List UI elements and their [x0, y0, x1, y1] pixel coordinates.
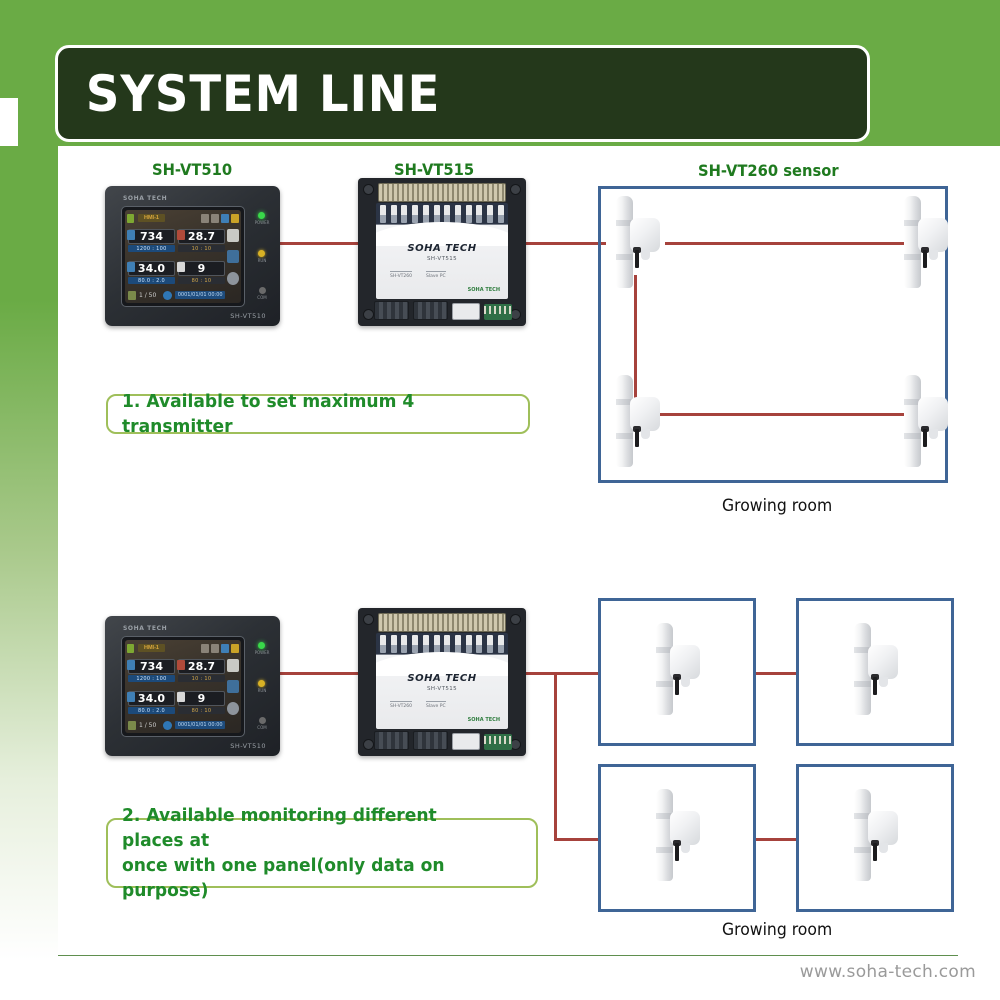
hmi-screen-bottombar-top: 1 / 50 0001/01/01 00:00: [128, 289, 225, 301]
hmi-screen-title-top: HMI-1: [138, 214, 165, 222]
hmi-screen-bottombar-bottom: 1 / 50 0001/01/01 00:00: [128, 719, 225, 731]
sensor-probe: [635, 250, 639, 268]
wire-branch-vertical-bottom: [554, 672, 557, 840]
hmi-cell-humidity-top[interactable]: 34.0 80.0 : 2.0: [128, 258, 175, 287]
hmi-led-column-bottom: POWER RUN COM: [254, 642, 270, 730]
led-label-run-bottom: RUN: [258, 688, 267, 693]
hmi-cell-co2-top[interactable]: 734 1200 : 100: [128, 226, 175, 255]
hmi-led-column-top: POWER RUN COM: [254, 212, 270, 300]
controller-bottom[interactable]: SOHA TECH SH-VT515 SH-VT260 Slave PC SOH…: [358, 608, 526, 756]
status-chip-icon: [127, 644, 134, 653]
led-run-top: RUN: [258, 250, 267, 263]
title-banner: SYSTEM LINE: [55, 45, 870, 142]
power-led-icon: [258, 642, 265, 649]
controller-sublabel-sensor-bottom: SH-VT260: [390, 701, 412, 709]
hmi-screen-topbar-top: HMI-1: [127, 212, 239, 224]
terminal-block-icon: [413, 731, 448, 750]
hmi-value-temp-bottom: 28.7: [178, 659, 225, 674]
wire-hmi-to-controller-top: [278, 242, 360, 245]
growing-room-label-top: Growing room: [722, 496, 832, 516]
wire-room-top-horizontal-2: [634, 413, 906, 416]
sensor-ring: [656, 847, 673, 853]
power-led-icon: [258, 212, 265, 219]
sensor-bracket: [641, 250, 650, 260]
led-power-top: POWER: [255, 212, 270, 225]
screw-icon: [363, 184, 374, 195]
sensor-ring: [656, 681, 673, 687]
growing-room-label-bottom: Growing room: [722, 920, 832, 940]
wire-branch-to-box-1: [554, 672, 600, 675]
label-controller: SH-VT515: [394, 160, 474, 179]
callout-text-2: 2. Available monitoring different places…: [122, 803, 502, 903]
sensor-ring: [854, 847, 871, 853]
thermometer-icon: [231, 644, 239, 653]
header-notch: [0, 98, 18, 146]
terminal-block-icon: [413, 301, 448, 320]
screw-icon: [363, 309, 374, 320]
sensor-top-left[interactable]: [608, 196, 666, 288]
hmi-topbar-icons-bottom: [201, 644, 239, 653]
controller-top[interactable]: SOHA TECH SH-VT515 SH-VT260 Slave PC SOH…: [358, 178, 526, 326]
log-icon: [128, 291, 136, 300]
controller-model-bottom: SH-VT515: [376, 686, 508, 692]
controller-bottom-connectors-bottom: [374, 730, 512, 750]
footer-url: www.soha-tech.com: [800, 962, 976, 982]
hmi-page-indicator-bottom: 1 / 50: [139, 722, 156, 729]
hmi-brand-top: SOHA TECH: [123, 195, 167, 202]
gear-icon[interactable]: [227, 702, 239, 715]
sensor-bracket: [641, 429, 650, 439]
water-drop-icon: [221, 214, 229, 223]
record-icon[interactable]: [163, 291, 172, 300]
hmi-bezel-bottom: HMI-1 734 1200 : 100 28.7 10 : 10: [121, 636, 245, 737]
fan-icon: [211, 644, 219, 653]
controller-faceplate-bottom: SOHA TECH SH-VT515 SH-VT260 Slave PC SOH…: [376, 633, 508, 729]
sensor-probe: [873, 677, 877, 695]
hmi-model-top: SH-VT510: [230, 312, 266, 320]
wire-branch-to-box-3: [554, 838, 600, 841]
hmi-cell-temp-top[interactable]: 28.7 10 : 10: [178, 226, 225, 255]
terminal-block-icon: [374, 301, 409, 320]
sensor-bottom-left[interactable]: [608, 375, 666, 467]
run-led-icon: [258, 250, 265, 257]
hmi-range-aux-bottom: 80 : 10: [178, 707, 225, 714]
wire-box3-to-box4: [755, 838, 797, 841]
wire-box1-to-box2: [755, 672, 797, 675]
hmi-screen-title-bottom: HMI-1: [138, 644, 165, 652]
status-chip-icon: [127, 214, 134, 223]
hmi-range-humidity-bottom: 80.0 : 2.0: [128, 707, 175, 714]
controller-logo-top: SOHA TECH: [468, 287, 500, 293]
document-icon[interactable]: [227, 659, 239, 672]
controller-sublabel-sensor-top: SH-VT260: [390, 271, 412, 279]
wire-controller-out-bottom: [526, 672, 556, 675]
controller-bottom-connectors-top: [374, 300, 512, 320]
hmi-status-strip-top: 0001/01/01 00:00: [175, 291, 225, 299]
hmi-range-co2-bottom: 1200 : 100: [128, 675, 175, 682]
co2-icon: [127, 660, 135, 670]
screw-icon: [510, 614, 521, 625]
humidity-icon: [127, 692, 135, 702]
led-label-power-bottom: POWER: [255, 650, 270, 655]
hmi-cell-humidity-bottom[interactable]: 34.0 80.0 : 2.0: [128, 688, 175, 717]
hmi-value-aux-top: 9: [178, 261, 225, 276]
controller-faceplate-top: SOHA TECH SH-VT515 SH-VT260 Slave PC SOH…: [376, 203, 508, 299]
screw-icon: [510, 184, 521, 195]
led-label-run-top: RUN: [258, 258, 267, 263]
pcb-connector-icon: [484, 304, 512, 320]
hmi-panel-bottom[interactable]: SOHA TECH SH-VT510 HMI-1 734 1200 : 100: [105, 616, 280, 756]
terminal-block-icon: [374, 731, 409, 750]
wire-room-top-horizontal-1: [665, 242, 905, 245]
sidebar-green-gradient: [0, 0, 58, 1000]
fan-icon: [211, 214, 219, 223]
house-icon: [201, 214, 209, 223]
hmi-page-indicator-top: 1 / 50: [139, 292, 156, 299]
pcb-connector-icon: [484, 734, 512, 750]
hmi-value-grid-top: 734 1200 : 100 28.7 10 : 10 34.0 80.0 : …: [128, 226, 225, 287]
sensor-top-right[interactable]: [896, 196, 954, 288]
hmi-range-temp-top: 10 : 10: [178, 245, 225, 252]
picture-icon[interactable]: [227, 250, 239, 263]
sensor-bracket: [929, 250, 938, 260]
sensor-bottom-right[interactable]: [896, 375, 954, 467]
hmi-model-bottom: SH-VT510: [230, 742, 266, 750]
sensor-ring: [904, 433, 921, 439]
controller-sublabels-top: SH-VT260 Slave PC: [390, 271, 446, 279]
sensor-probe: [923, 429, 927, 447]
sensor-room-1[interactable]: [648, 623, 706, 715]
probe-icon: [177, 262, 185, 272]
wire-hmi-to-controller-bottom: [278, 672, 360, 675]
sensor-probe: [675, 677, 679, 695]
controller-sublabel-pc-top: Slave PC: [426, 271, 446, 279]
hmi-panel-top[interactable]: SOHA TECH SH-VT510 HMI-1 734 1200 : 100: [105, 186, 280, 326]
wire-controller-to-room-top: [526, 242, 606, 245]
controller-logo-text-top: SOHA TECH: [468, 287, 500, 293]
sensor-ring: [904, 254, 921, 260]
co2-icon: [127, 230, 135, 240]
humidity-icon: [127, 262, 135, 272]
thermometer-icon: [177, 660, 185, 670]
hmi-bezel-top: HMI-1 734 1200 : 100 28.7 10 : 10: [121, 206, 245, 307]
hmi-value-humidity-top: 34.0: [128, 261, 175, 276]
com-led-icon: [259, 717, 266, 724]
house-icon: [201, 644, 209, 653]
hmi-value-co2-bottom: 734: [128, 659, 175, 674]
controller-brand-bottom: SOHA TECH: [376, 673, 508, 684]
controller-logo-text-bottom: SOHA TECH: [468, 717, 500, 723]
hmi-value-grid-bottom: 734 1200 : 100 28.7 10 : 10 34.0 80.0 : …: [128, 656, 225, 717]
run-led-icon: [258, 680, 265, 687]
led-com-top: COM: [257, 287, 266, 300]
sensor-probe: [635, 429, 639, 447]
gear-icon[interactable]: [227, 272, 239, 285]
hmi-range-co2-top: 1200 : 100: [128, 245, 175, 252]
led-label-com-bottom: COM: [257, 725, 266, 730]
hmi-range-humidity-top: 80.0 : 2.0: [128, 277, 175, 284]
sensor-room-3[interactable]: [648, 789, 706, 881]
controller-sublabel-pc-bottom: Slave PC: [426, 701, 446, 709]
label-hmi: SH-VT510: [152, 160, 232, 179]
thermometer-icon: [177, 230, 185, 240]
callout-text-1: 1. Available to set maximum 4 transmitte…: [122, 389, 494, 439]
sensor-ring: [616, 433, 633, 439]
callout-box-2: 2. Available monitoring different places…: [106, 818, 538, 888]
led-com-bottom: COM: [257, 717, 266, 730]
hmi-screen-topbar-bottom: HMI-1: [127, 642, 239, 654]
com-led-icon: [259, 287, 266, 294]
thermometer-icon: [231, 214, 239, 223]
led-label-com-top: COM: [257, 295, 266, 300]
controller-brand-top: SOHA TECH: [376, 243, 508, 254]
sensor-bracket: [681, 843, 690, 853]
callout-box-1: 1. Available to set maximum 4 transmitte…: [106, 394, 530, 434]
picture-icon[interactable]: [227, 680, 239, 693]
log-icon: [128, 721, 136, 730]
probe-icon: [177, 692, 185, 702]
sensor-probe: [675, 843, 679, 861]
hmi-cell-temp-bottom[interactable]: 28.7 10 : 10: [178, 656, 225, 685]
sensor-bracket: [879, 843, 888, 853]
sensor-bracket: [681, 677, 690, 687]
led-power-bottom: POWER: [255, 642, 270, 655]
hmi-topbar-icons-top: [201, 214, 239, 223]
hmi-range-temp-bottom: 10 : 10: [178, 675, 225, 682]
hmi-screen-buttons-top: [226, 225, 240, 289]
hmi-cell-aux-top[interactable]: 9 80 : 10: [178, 258, 225, 287]
hmi-cell-co2-bottom[interactable]: 734 1200 : 100: [128, 656, 175, 685]
led-run-bottom: RUN: [258, 680, 267, 693]
hmi-value-co2-top: 734: [128, 229, 175, 244]
hmi-screen-bottom[interactable]: HMI-1 734 1200 : 100 28.7 10 : 10: [125, 640, 241, 733]
screw-icon: [363, 614, 374, 625]
sensor-room-2[interactable]: [846, 623, 904, 715]
sensor-room-4[interactable]: [846, 789, 904, 881]
connector-icon: [452, 303, 480, 320]
hmi-brand-bottom: SOHA TECH: [123, 625, 167, 632]
sensor-probe: [873, 843, 877, 861]
hmi-range-aux-top: 80 : 10: [178, 277, 225, 284]
hmi-value-humidity-bottom: 34.0: [128, 691, 175, 706]
sensor-ring: [616, 254, 633, 260]
hmi-value-temp-top: 28.7: [178, 229, 225, 244]
controller-model-top: SH-VT515: [376, 256, 508, 262]
water-drop-icon: [221, 644, 229, 653]
sensor-probe: [923, 250, 927, 268]
hmi-screen-buttons-bottom: [226, 655, 240, 719]
hmi-value-aux-bottom: 9: [178, 691, 225, 706]
document-icon[interactable]: [227, 229, 239, 242]
connector-icon: [452, 733, 480, 750]
sensor-ring: [854, 681, 871, 687]
screw-icon: [363, 739, 374, 750]
footer-divider: [58, 955, 958, 956]
hmi-cell-aux-bottom[interactable]: 9 80 : 10: [178, 688, 225, 717]
hmi-screen-top[interactable]: HMI-1 734 1200 : 100 28.7 10 : 10: [125, 210, 241, 303]
hmi-status-strip-bottom: 0001/01/01 00:00: [175, 721, 225, 729]
sensor-bracket: [879, 677, 888, 687]
controller-logo-bottom: SOHA TECH: [468, 717, 500, 723]
page-title: SYSTEM LINE: [58, 65, 440, 123]
controller-sublabels-bottom: SH-VT260 Slave PC: [390, 701, 446, 709]
label-sensor: SH-VT260 sensor: [698, 161, 839, 180]
record-icon[interactable]: [163, 721, 172, 730]
led-label-power-top: POWER: [255, 220, 270, 225]
sensor-bracket: [929, 429, 938, 439]
